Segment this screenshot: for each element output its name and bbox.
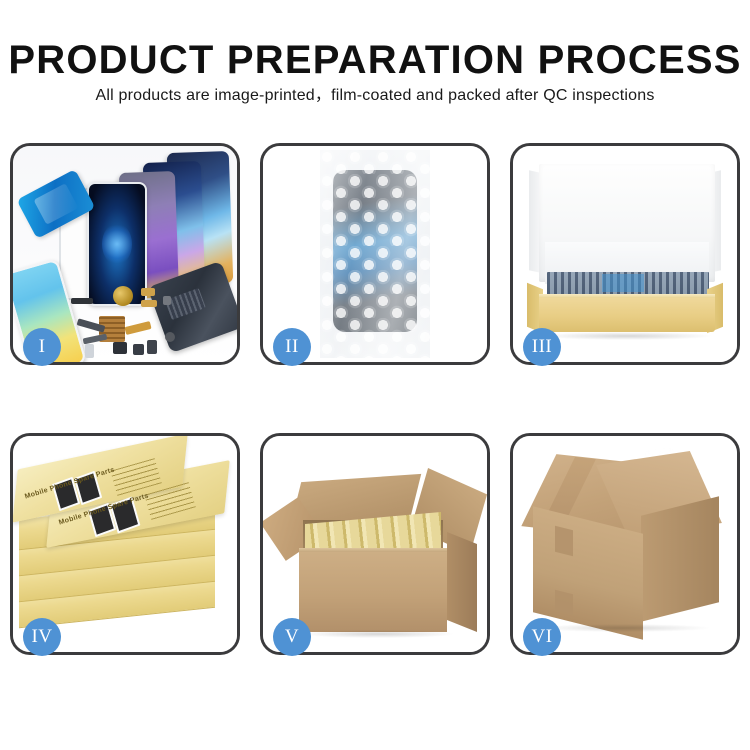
- drop-shadow: [303, 630, 453, 638]
- product-preparation-infographic: PRODUCT PREPARATION PROCESS All products…: [0, 0, 750, 750]
- spare-part-icon: [113, 342, 127, 354]
- spare-part-icon: [124, 321, 151, 335]
- carton-right-side: [447, 532, 477, 632]
- step-badge-1: I: [23, 328, 61, 366]
- spare-part-icon: [141, 300, 157, 307]
- spare-part-icon: [71, 298, 93, 304]
- steps-grid: I II: [10, 143, 740, 680]
- page-title: PRODUCT PREPARATION PROCESS: [0, 40, 750, 80]
- spare-part-icon: [83, 334, 108, 345]
- step-badge-4: IV: [23, 618, 61, 656]
- spare-part-icon: [133, 344, 144, 355]
- carton-front-panel: [299, 552, 447, 632]
- spare-part-icon: [147, 340, 157, 354]
- drop-shadow: [543, 332, 711, 340]
- step-panel-3: III: [510, 143, 740, 365]
- step-panel-6: VI: [510, 433, 740, 655]
- step-panel-5: V: [260, 433, 490, 655]
- drop-shadow: [539, 624, 709, 632]
- spare-part-icon: [165, 332, 175, 342]
- spare-part-icon: [163, 296, 171, 305]
- step-badge-2: II: [273, 328, 311, 366]
- spare-part-icon: [113, 286, 133, 306]
- plastic-sheen: [320, 150, 430, 358]
- step-panel-2: II: [260, 143, 490, 365]
- step-badge-5: V: [273, 618, 311, 656]
- step-panel-1: I: [10, 143, 240, 365]
- spare-part-icon: [141, 288, 155, 296]
- carton-tab: [555, 526, 573, 556]
- step-badge-3: III: [523, 328, 561, 366]
- box-front-panel: [539, 298, 715, 332]
- page-subtitle: All products are image-printed，film-coat…: [0, 88, 750, 104]
- carton-tab: [555, 590, 573, 616]
- carton-right-side: [641, 496, 719, 621]
- spare-part-icon: [85, 344, 94, 358]
- step-panel-4: Mobile Phone Spare Parts Mobile Phone Sp…: [10, 433, 240, 655]
- step-badge-6: VI: [523, 618, 561, 656]
